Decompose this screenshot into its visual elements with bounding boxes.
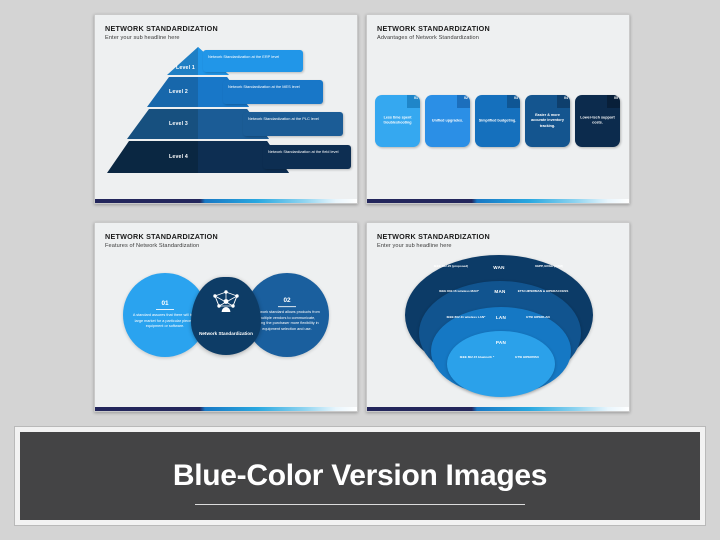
pyramid-level-label-4: Level 4 [169,154,188,160]
ring-left-wan: IEEE 802.20 (proposed) [423,264,479,269]
feature-center-label: Network Standardization [191,331,261,337]
pyramid-level-label-2: Level 2 [169,89,188,95]
page-title: NETWORK STANDARDIZATION [377,24,490,33]
nested-network-diagram: WAN IEEE 802.20 (proposed) 3GPP, EDGE (G… [367,249,629,401]
banner-title: Blue-Color Version Images [20,459,700,493]
slide-canvas: NETWORK STANDARDIZATION Enter your sub h… [367,223,629,411]
bottom-banner: Blue-Color Version Images [20,432,700,520]
pyramid-level-label-1: Level 1 [176,65,195,71]
slide-thumbnail-nested[interactable]: NETWORK STANDARDIZATION Enter your sub h… [366,222,630,412]
card-number-5: 05 [614,96,618,100]
pyramid-callout-4[interactable]: Network Standardization at the field lev… [263,145,351,169]
card-text-2: Unified upgrades. [428,118,467,123]
advantage-card-2[interactable]: 02 Unified upgrades. [425,95,470,147]
card-text-4: Easier & more accurate inventory trackin… [528,113,567,129]
advantage-card-row: 01 Less time spent troubleshooting 02 Un… [375,95,621,153]
card-text-5: Lower-tech support costs. [578,116,617,127]
pyramid-callout-text-4: Network Standardization at the field lev… [268,149,339,154]
pyramid-callout-2[interactable]: Network Standardization at the MES level [223,80,323,104]
pyramid-callout-text-1: Network Standardization at the ERP level [208,54,279,59]
advantage-card-5[interactable]: 05 Lower-tech support costs. [575,95,620,147]
slide-accent-bar [367,407,629,411]
ring-right-man: ETSI HIPERMAN & HIPERACCESS [515,289,571,294]
ring-right-wan: 3GPP, EDGE (GSM) [521,264,577,269]
pyramid-diagram: Level 1 Network Standardization at the E… [95,41,357,191]
page-subtitle: Features of Network Standardization [105,243,199,249]
slide-thumbnail-features[interactable]: NETWORK STANDARDIZATION Features of Netw… [94,222,358,412]
pyramid-level-label-3: Level 3 [169,121,188,127]
advantage-card-3[interactable]: 03 Simplified budgeting. [475,95,520,147]
slide-canvas: NETWORK STANDARDIZATION Advantages of Ne… [367,15,629,203]
page-title: NETWORK STANDARDIZATION [105,232,218,241]
ring-left-lan: IEEE 802.11 wireless LAN* [441,315,491,320]
pyramid-band-4[interactable]: Level 4 [107,141,289,173]
ring-left-pan: IEEE 802.15 bluetooth * [455,355,499,360]
pyramid-callout-text-3: Network Standardization at the PLC level [248,116,319,121]
ring-right-lan: ETSI HIPERLAN [515,315,561,320]
ring-left-man: IEEE 802.16 wireless MAN* [433,289,485,294]
feature-text-2: Network standard allows products from mu… [254,310,320,333]
slide-canvas: NETWORK STANDARDIZATION Features of Netw… [95,223,357,411]
pyramid-shape-4 [107,141,289,173]
feature-body-2: 02 Network standard allows products from… [254,297,320,333]
advantage-card-1[interactable]: 01 Less time spent troubleshooting [375,95,420,147]
feature-text-1: A standard assures that there will be a … [132,313,198,330]
banner-divider [195,504,525,505]
advantage-card-4[interactable]: 04 Easier & more accurate inventory trac… [525,95,570,147]
ring-title-pan: PAN [447,340,555,345]
pyramid-callout-1[interactable]: Network Standardization at the ERP level [203,50,303,72]
features-venn-diagram: 01 A standard assures that there will be… [95,251,357,401]
feature-number-2: 02 [278,297,296,307]
ring-right-pan: ETSI HIPERPAN [507,355,547,360]
card-number-2: 02 [464,96,468,100]
page-title: NETWORK STANDARDIZATION [377,232,490,241]
slide-gallery-page: NETWORK STANDARDIZATION Enter your sub h… [0,0,720,540]
feature-center-shape[interactable]: Network Standardization [191,277,261,355]
pyramid-callout-text-2: Network Standardization at the MES level [228,84,300,89]
card-text-1: Less time spent troubleshooting [378,116,417,127]
card-text-3: Simplified budgeting. [478,118,517,123]
bottom-banner-frame: Blue-Color Version Images [14,426,706,526]
slide-accent-bar [95,199,357,203]
feature-number-1: 01 [156,300,174,310]
page-subtitle: Advantages of Network Standardization [377,35,479,41]
pyramid-callout-3[interactable]: Network Standardization at the PLC level [243,112,343,136]
slide-accent-bar [95,407,357,411]
slide-canvas: NETWORK STANDARDIZATION Enter your sub h… [95,15,357,203]
feature-body-1: 01 A standard assures that there will be… [132,300,198,330]
network-nodes-icon [211,289,241,315]
slide-thumbnail-pyramid[interactable]: NETWORK STANDARDIZATION Enter your sub h… [94,14,358,204]
card-number-3: 03 [514,96,518,100]
card-number-1: 01 [414,96,418,100]
card-number-4: 04 [564,96,568,100]
ring-pan[interactable]: PAN IEEE 802.15 bluetooth * ETSI HIPERPA… [447,331,555,397]
page-title: NETWORK STANDARDIZATION [105,24,218,33]
slide-accent-bar [367,199,629,203]
slide-thumbnail-advantages[interactable]: NETWORK STANDARDIZATION Advantages of Ne… [366,14,630,204]
